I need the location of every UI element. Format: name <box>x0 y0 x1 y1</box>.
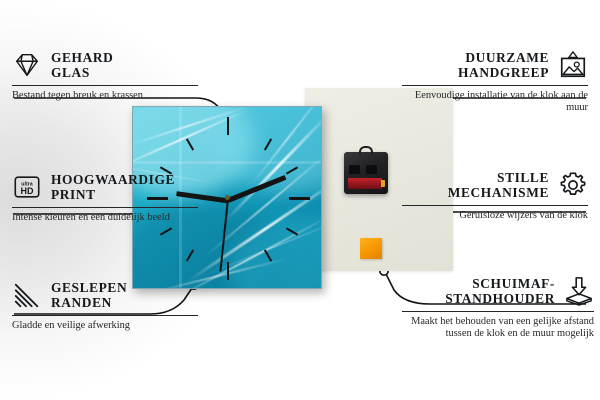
feature-description: Geruisloze wijzers van de klok <box>402 210 588 222</box>
feature-description: Maakt het behouden van een gelijke afsta… <box>402 316 594 341</box>
feature-description: Gladde en veilige afwerking <box>12 320 198 332</box>
beveled-edge-icon <box>12 280 42 310</box>
tick-6 <box>227 262 229 280</box>
feature-title: HOOGWAARDIGE PRINT <box>51 172 175 202</box>
feature-title: GESLEPEN RANDEN <box>51 280 127 310</box>
diamond-icon <box>12 50 42 80</box>
feature-gehard-glas: GEHARD GLAS Bestand tegen breuk en krass… <box>12 50 198 102</box>
tick-3 <box>289 197 310 200</box>
feature-title: SCHUIMAF- STANDHOUDER <box>445 276 555 306</box>
mechanism-slot-left <box>349 165 360 174</box>
feature-title: STILLE MECHANISME <box>448 170 549 200</box>
divider <box>402 205 588 206</box>
battery-terminal <box>381 180 385 187</box>
hanger-loop <box>359 146 373 155</box>
divider <box>12 315 198 316</box>
feature-description: Intense kleuren en een duidelijk beeld <box>12 212 198 224</box>
divider <box>12 85 198 86</box>
feature-stille-mechanisme: STILLE MECHANISME Geruisloze wijzers van… <box>402 170 588 222</box>
feature-duurzame-handgreep: DUURZAME HANDGREEP Eenvoudige installati… <box>402 50 588 115</box>
divider <box>12 207 198 208</box>
tick-12 <box>227 117 229 135</box>
infographic-canvas: GEHARD GLAS Bestand tegen breuk en krass… <box>0 0 600 400</box>
divider <box>402 85 588 86</box>
battery <box>348 178 382 189</box>
mechanism-slot-right <box>366 165 377 174</box>
divider <box>402 311 594 312</box>
feature-title: GEHARD GLAS <box>51 50 113 80</box>
hands-center-cap <box>225 195 230 200</box>
foam-spacer-pad <box>360 238 382 259</box>
feature-description: Bestand tegen breuk en krassen <box>12 90 198 102</box>
svg-text:HD: HD <box>21 186 34 196</box>
feature-description: Eenvoudige installatie van de klok aan d… <box>402 90 588 115</box>
clock-mechanism <box>344 152 388 194</box>
feature-geslepen-randen: GESLEPEN RANDEN Gladde en veilige afwerk… <box>12 280 198 332</box>
foam-spacer-icon <box>564 276 594 306</box>
feature-schuimaf-standhouder: SCHUIMAF- STANDHOUDER Maakt het behouden… <box>402 276 594 341</box>
feature-title: DUURZAME HANDGREEP <box>458 50 549 80</box>
picture-hanger-icon <box>558 50 588 80</box>
gear-icon <box>558 170 588 200</box>
ultra-hd-icon: ultra HD <box>12 172 42 202</box>
feature-hoogwaardige-print: ultra HD HOOGWAARDIGE PRINT Intense kleu… <box>12 172 198 224</box>
